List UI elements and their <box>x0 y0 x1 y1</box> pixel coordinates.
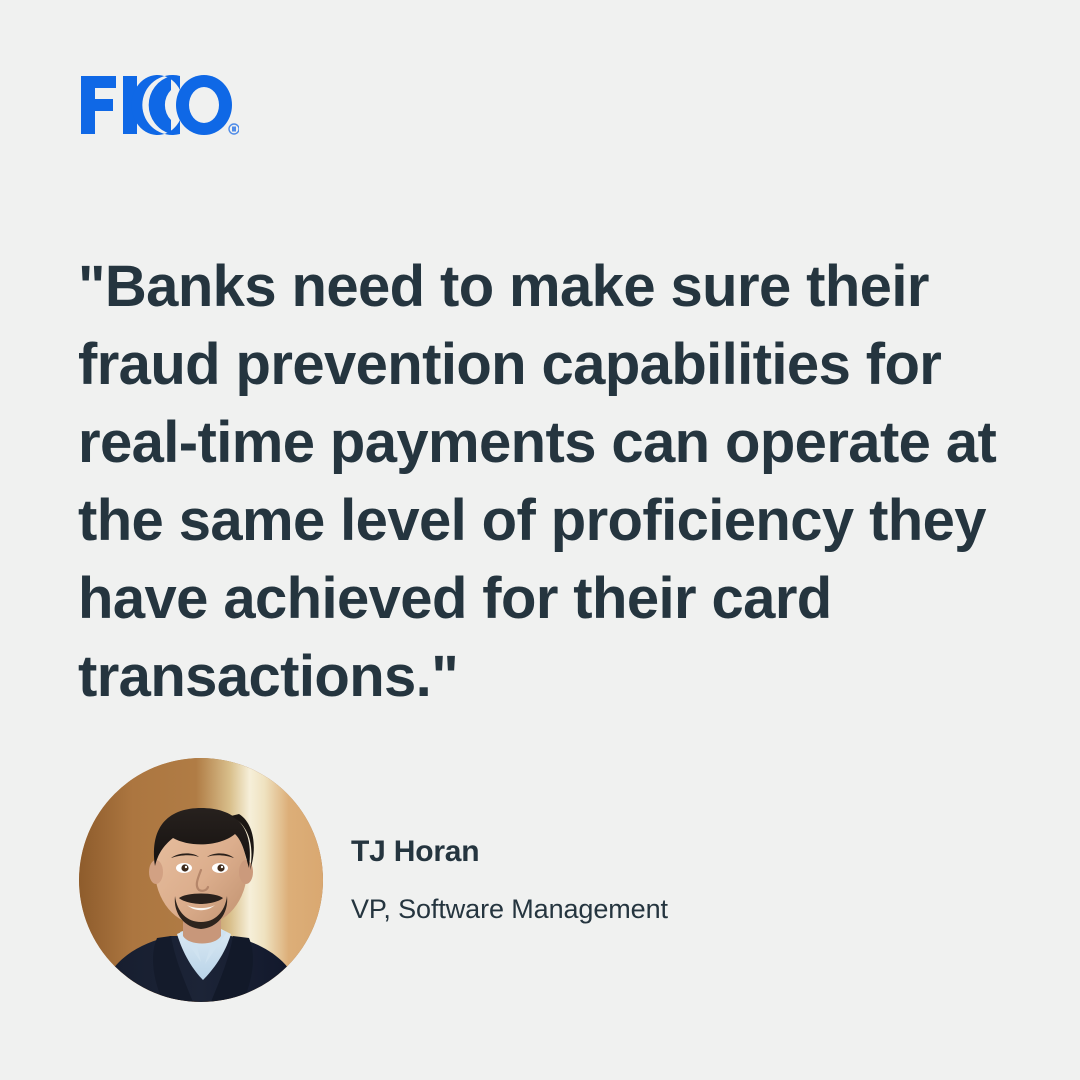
fico-logo: FICO ® <box>79 74 239 136</box>
person-name: TJ Horan <box>351 833 668 871</box>
attribution-block: TJ Horan headshot TJ Horan VP, Software … <box>79 757 979 1003</box>
avatar-portrait-image <box>79 758 323 1002</box>
person-details: TJ Horan VP, Software Management <box>351 833 668 927</box>
fico-logo-icon <box>79 74 239 136</box>
quote-card: FICO ® "Banks need to make sure their fr… <box>0 0 1080 1080</box>
avatar: TJ Horan headshot <box>79 758 323 1002</box>
person-title: VP, Software Management <box>351 891 668 927</box>
quote-text: "Banks need to make sure their fraud pre… <box>78 248 1018 716</box>
